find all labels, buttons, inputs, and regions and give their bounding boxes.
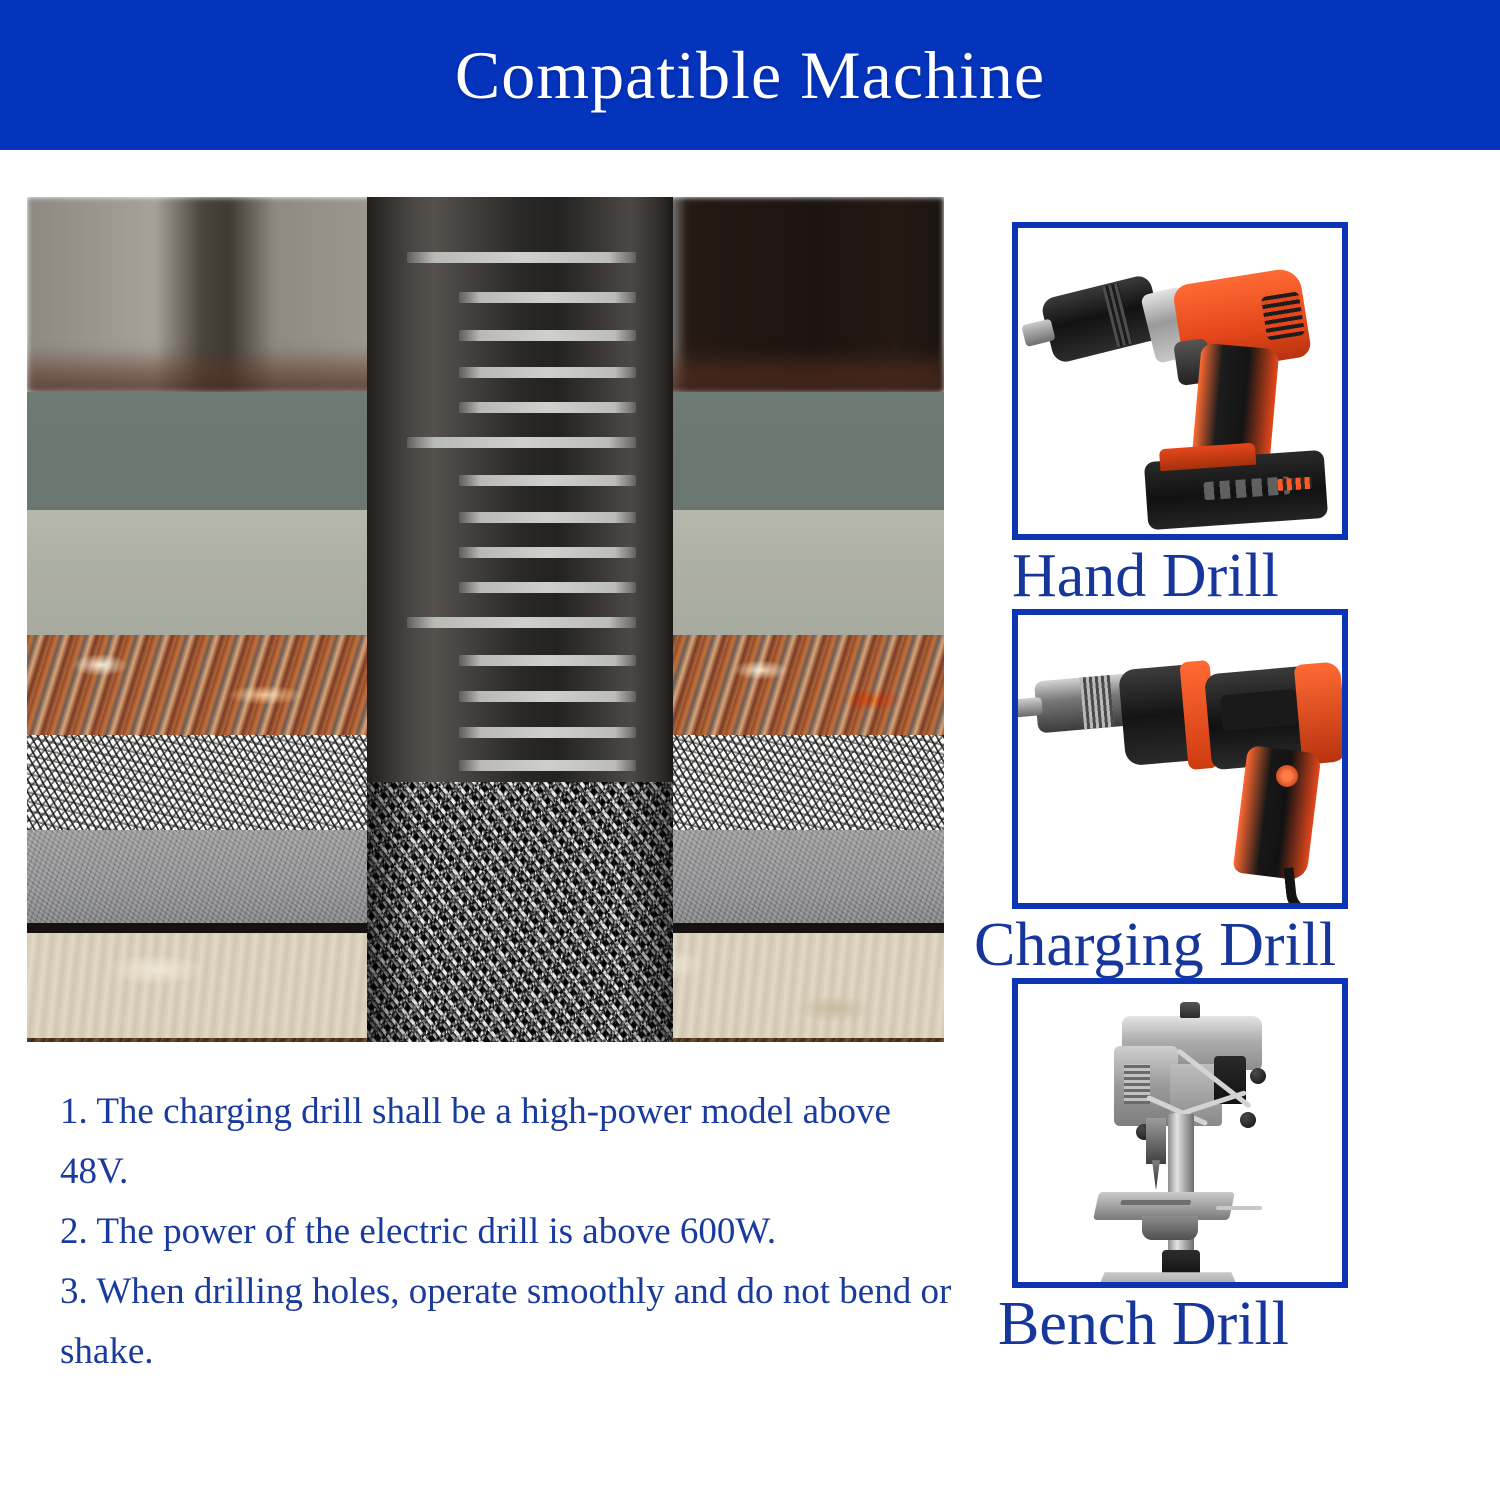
cordless-drill-battery-icon <box>1144 450 1328 530</box>
drill-bit-through-material-layers <box>27 197 944 1042</box>
ruler-tick-short <box>459 760 636 771</box>
ruler-tick-short <box>459 367 636 378</box>
machine-label-bench-drill: Bench Drill <box>998 1292 1352 1357</box>
ruler-tick-long <box>407 252 637 263</box>
drill-press-spindle-icon <box>1146 1118 1166 1164</box>
page-header: Compatible Machine <box>0 0 1500 150</box>
ruler-tick-short <box>459 475 636 486</box>
machine-image-frame-bench-drill <box>1012 978 1348 1288</box>
hammer-drill-power-cord-icon <box>1283 862 1348 909</box>
drill-press-knob-icon <box>1250 1068 1266 1084</box>
page-title: Compatible Machine <box>455 36 1045 115</box>
machine-card-charging-drill: Charging Drill <box>1012 609 1352 978</box>
ruler-tick-short <box>459 402 636 413</box>
usage-notes-list: 1. The charging drill shall be a high-po… <box>60 1082 960 1382</box>
ruler-tick-short <box>459 547 636 558</box>
machine-card-bench-drill: Bench Drill <box>1012 978 1352 1357</box>
grit-shading-overlay <box>367 782 673 1042</box>
ruler-tick-long <box>407 617 637 628</box>
machine-label-hand-drill: Hand Drill <box>1012 544 1352 609</box>
battery-led-icon <box>1277 477 1312 491</box>
battery-top-icon <box>1159 443 1256 472</box>
diamond-grit-tip <box>367 782 673 1042</box>
drill-press-table-support-icon <box>1142 1216 1198 1240</box>
machine-image-frame-hand-drill <box>1012 222 1348 540</box>
ruler-tick-short <box>459 292 636 303</box>
ruler-tick-short <box>459 727 636 738</box>
ruler-tick-short <box>459 655 636 666</box>
ruler-tick-short <box>459 512 636 523</box>
ruler-tick-long <box>407 437 637 448</box>
ruler-tick-short <box>459 330 636 341</box>
ruler-tick-short <box>459 582 636 593</box>
drill-press-crank-icon <box>1216 1206 1262 1210</box>
ruler-tick-short <box>459 691 636 702</box>
usage-note-1: 1. The charging drill shall be a high-po… <box>60 1082 960 1202</box>
compatible-machines-column: Hand Drill Charging Drill <box>1012 222 1352 1357</box>
drill-press-knob-icon <box>1240 1112 1256 1128</box>
hammer-drill-button-icon <box>1276 765 1298 787</box>
hammer-drill-grip-icon <box>1232 745 1321 881</box>
drill-press-base-icon <box>1080 1272 1256 1288</box>
drill-press-bit-icon <box>1152 1160 1160 1190</box>
usage-note-2: 2. The power of the electric drill is ab… <box>60 1202 960 1262</box>
usage-note-3: 3. When drilling holes, operate smoothly… <box>60 1262 960 1382</box>
machine-card-hand-drill: Hand Drill <box>1012 222 1352 609</box>
hammer-drill-endcap-icon <box>1294 661 1348 765</box>
machine-label-charging-drill: Charging Drill <box>974 913 1352 978</box>
machine-image-frame-charging-drill <box>1012 609 1348 909</box>
cordless-drill-vent-icon <box>1261 291 1305 340</box>
